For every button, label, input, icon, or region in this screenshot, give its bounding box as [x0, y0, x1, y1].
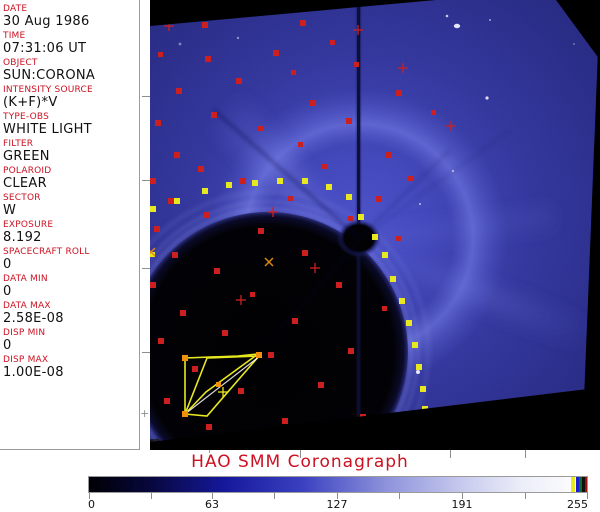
- metadata-field-data-min: DATA MIN 0: [3, 274, 139, 299]
- metadata-field-disp-min: DISP MIN 0: [3, 328, 139, 353]
- metadata-field-sector: SECTOR W: [3, 193, 139, 218]
- metadata-label: INTENSITY SOURCE: [3, 85, 139, 95]
- metadata-field-type-obs: TYPE-OBS WHITE LIGHT: [3, 112, 139, 137]
- colorbar-tick: [274, 493, 275, 499]
- metadata-label: DATA MAX: [3, 301, 139, 311]
- metadata-field-disp-max: DISP MAX 1.00E-08: [3, 355, 139, 380]
- metadata-label: SECTOR: [3, 193, 139, 203]
- metadata-field-date: DATE 30 Aug 1986: [3, 4, 139, 29]
- metadata-label: POLAROID: [3, 166, 139, 176]
- metadata-value: 0: [3, 338, 139, 353]
- metadata-field-data-max: DATA MAX 2.58E-08: [3, 301, 139, 326]
- colorbar-block: HAO SMM Coronagraph 0 63 127 191 255: [0, 452, 600, 512]
- colorbar-tick-label: 63: [205, 499, 219, 511]
- metadata-label: TYPE-OBS: [3, 112, 139, 122]
- metadata-value: 30 Aug 1986: [3, 14, 139, 29]
- coronagraph-image[interactable]: [150, 0, 600, 450]
- metadata-value: WHITE LIGHT: [3, 122, 139, 137]
- metadata-value: SUN:CORONA: [3, 68, 139, 83]
- metadata-value: 2.58E-08: [3, 311, 139, 326]
- colorbar-flag-yellow: [571, 477, 575, 492]
- metadata-field-exposure: EXPOSURE 8.192: [3, 220, 139, 245]
- metadata-value: W: [3, 203, 139, 218]
- metadata-label: DISP MAX: [3, 355, 139, 365]
- colorbar-tick-label: 0: [88, 499, 95, 511]
- metadata-value: 0: [3, 284, 139, 299]
- metadata-panel: DATE 30 Aug 1986 TIME 07:31:06 UT OBJECT…: [0, 0, 140, 450]
- metadata-field-spacecraft-roll: SPACECRAFT ROLL 0: [3, 247, 139, 272]
- metadata-label: TIME: [3, 31, 139, 41]
- metadata-value: GREEN: [3, 149, 139, 164]
- colorbar-gradient: [89, 477, 571, 492]
- metadata-label: FILTER: [3, 139, 139, 149]
- metadata-label: DISP MIN: [3, 328, 139, 338]
- colorbar-strip[interactable]: [88, 476, 588, 493]
- axis-tick: [142, 352, 150, 353]
- colorbar-title: HAO SMM Coronagraph: [0, 452, 600, 472]
- metadata-value: 0: [3, 257, 139, 272]
- colorbar-flag-red: [585, 477, 588, 492]
- axis-tick: [142, 96, 150, 97]
- metadata-label: DATE: [3, 4, 139, 14]
- metadata-value: 8.192: [3, 230, 139, 245]
- colorbar-tick-label: 191: [452, 499, 473, 511]
- metadata-label: EXPOSURE: [3, 220, 139, 230]
- colorbar-tick-label: 127: [327, 499, 348, 511]
- metadata-field-polaroid: POLAROID CLEAR: [3, 166, 139, 191]
- coronagraph-canvas: [150, 0, 600, 450]
- metadata-field-object: OBJECT SUN:CORONA: [3, 58, 139, 83]
- colorbar-tick: [525, 493, 526, 499]
- metadata-label: DATA MIN: [3, 274, 139, 284]
- axis-tick: [142, 180, 150, 181]
- axis-cross-mark: +: [140, 408, 149, 419]
- colorbar-tick-label: 255: [567, 499, 588, 511]
- metadata-field-time: TIME 07:31:06 UT: [3, 31, 139, 56]
- metadata-field-intensity-source: INTENSITY SOURCE (K+F)*V: [3, 85, 139, 110]
- metadata-label: SPACECRAFT ROLL: [3, 247, 139, 257]
- colorbar-axis: 0 63 127 191 255: [88, 493, 588, 511]
- metadata-field-filter: FILTER GREEN: [3, 139, 139, 164]
- metadata-value: 07:31:06 UT: [3, 41, 139, 56]
- colorbar-tick: [399, 493, 400, 499]
- metadata-value: (K+F)*V: [3, 95, 139, 110]
- metadata-value: CLEAR: [3, 176, 139, 191]
- metadata-value: 1.00E-08: [3, 365, 139, 380]
- colorbar-tick: [151, 493, 152, 499]
- axis-tick: [142, 268, 150, 269]
- metadata-label: OBJECT: [3, 58, 139, 68]
